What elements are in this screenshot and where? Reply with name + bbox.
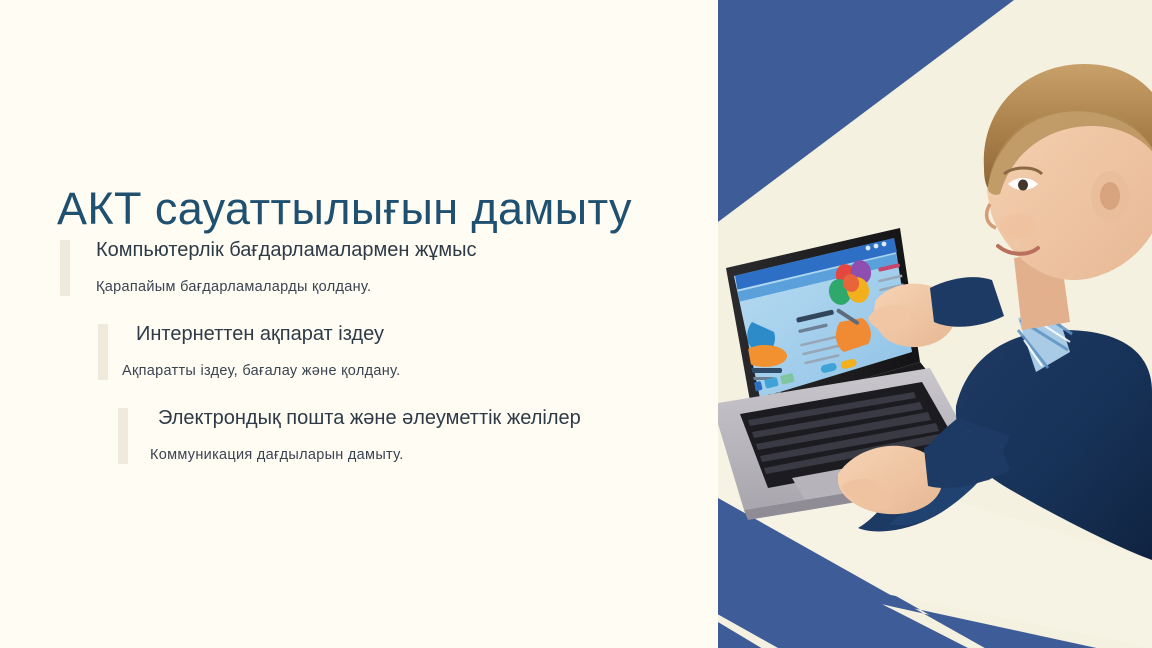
- page-title: АКТ сауаттылығын дамыту: [57, 182, 632, 236]
- boy-using-laptop-photo: [718, 0, 1152, 648]
- list-item: Электрондық пошта және әлеуметтік желіле…: [0, 400, 718, 484]
- bullet-subtext: Коммуникация дағдыларын дамыту.: [150, 444, 404, 466]
- bullet-list: Компьютерлік бағдарламалармен жұмыс Қара…: [0, 232, 718, 484]
- content-area: АКТ сауаттылығын дамыту Компьютерлік бағ…: [0, 0, 718, 648]
- accent-bar-icon: [98, 324, 108, 380]
- bullet-heading: Электрондық пошта және әлеуметтік желіле…: [158, 404, 581, 432]
- bullet-subtext: Ақпаратты іздеу, бағалау және қолдану.: [122, 360, 400, 382]
- slide-root: АКТ сауаттылығын дамыту Компьютерлік бағ…: [0, 0, 1152, 648]
- bullet-subtext: Қарапайым бағдарламаларды қолдану.: [96, 276, 371, 298]
- accent-bar-icon: [60, 240, 70, 296]
- photo-panel: [718, 0, 1152, 648]
- bullet-heading: Компьютерлік бағдарламалармен жұмыс: [96, 236, 476, 264]
- list-item: Интернеттен ақпарат іздеу Ақпаратты ізде…: [0, 316, 718, 400]
- list-item: Компьютерлік бағдарламалармен жұмыс Қара…: [0, 232, 718, 316]
- accent-bar-icon: [118, 408, 128, 464]
- bullet-heading: Интернеттен ақпарат іздеу: [136, 320, 384, 348]
